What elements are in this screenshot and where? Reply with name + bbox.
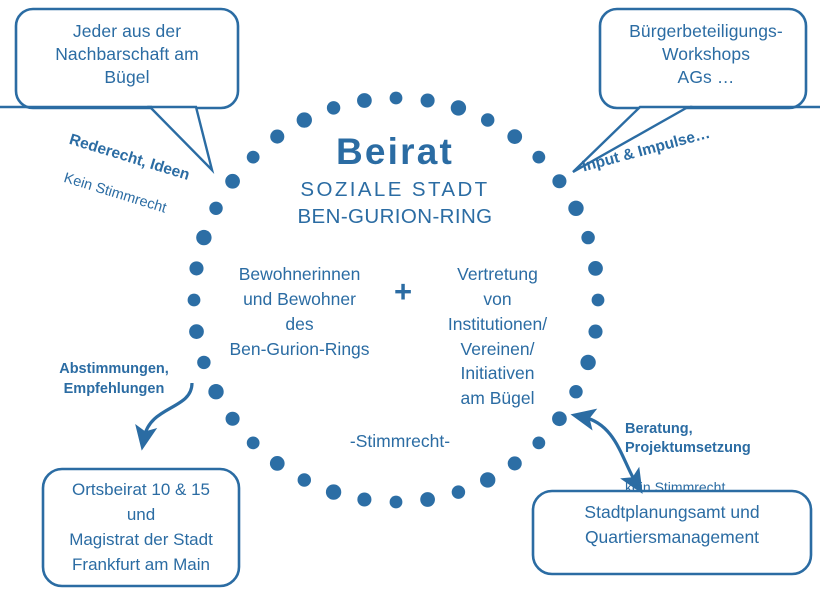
- annotation-beratung-light: kein Stimmrecht: [625, 478, 795, 497]
- ring-dot: [208, 384, 223, 399]
- ring-dot: [225, 174, 240, 189]
- ring-dot: [552, 411, 567, 426]
- ring-dot: [357, 93, 372, 108]
- ring-dot: [592, 294, 605, 307]
- ring-dot: [421, 93, 435, 107]
- ring-dot: [197, 356, 210, 369]
- ring-column-institutions: Vertretung von Institutionen/ Vereinen/ …: [420, 262, 575, 411]
- bubble-participation-text: Bürgerbeteiligungs- Workshops AGs …: [602, 20, 810, 88]
- diagram-canvas: Jeder aus der Nachbarschaft am Bügel Bür…: [0, 0, 820, 600]
- ring-dot: [508, 456, 522, 470]
- ring-dot: [588, 261, 603, 276]
- ring-dot: [581, 231, 594, 244]
- annotation-beratung: Beratung, Projektumsetzung kein Stimmrec…: [625, 400, 795, 517]
- ring-dot: [390, 496, 403, 509]
- ring-dot: [532, 436, 545, 449]
- ring-subtitle-primary: SOZIALE STADT: [245, 177, 545, 204]
- ring-dot: [357, 492, 371, 506]
- ring-dot: [189, 261, 203, 275]
- ring-dot: [196, 230, 211, 245]
- ring-dot: [189, 324, 204, 339]
- plus-sign: +: [388, 276, 418, 307]
- box-ortsbeirat-text: Ortsbeirat 10 & 15 und Magistrat der Sta…: [46, 478, 236, 578]
- ring-footer-note: -Stimmrecht-: [315, 430, 485, 453]
- ring-dot: [568, 201, 583, 216]
- ring-title: Beirat: [245, 128, 545, 176]
- annotation-abstimmungen: Abstimmungen, Empfehlungen: [44, 360, 184, 399]
- ring-dot: [452, 485, 465, 498]
- ring-dot: [552, 174, 566, 188]
- ring-dot: [451, 100, 466, 115]
- ring-dot: [327, 101, 340, 114]
- ring-dot: [226, 412, 240, 426]
- ring-dot: [390, 92, 403, 105]
- ring-dot: [298, 473, 311, 486]
- ring-dot: [326, 484, 341, 499]
- ring-dot: [247, 436, 260, 449]
- annotation-beratung-bold: Beratung, Projektumsetzung: [625, 420, 795, 459]
- ring-dot: [209, 202, 222, 215]
- ring-column-residents: Bewohnerinnen und Bewohner des Ben-Gurio…: [212, 262, 387, 361]
- ring-dot: [420, 492, 435, 507]
- ring-dot: [480, 472, 495, 487]
- ring-dot: [270, 456, 285, 471]
- ring-dot: [481, 113, 494, 126]
- ring-dot: [297, 112, 312, 127]
- ring-dot: [580, 355, 595, 370]
- bubble-neighbourhood-text: Jeder aus der Nachbarschaft am Bügel: [22, 20, 232, 88]
- ring-dot: [188, 294, 201, 307]
- ring-dot: [588, 325, 602, 339]
- ring-subtitle-secondary: BEN-GURION-RING: [245, 204, 545, 231]
